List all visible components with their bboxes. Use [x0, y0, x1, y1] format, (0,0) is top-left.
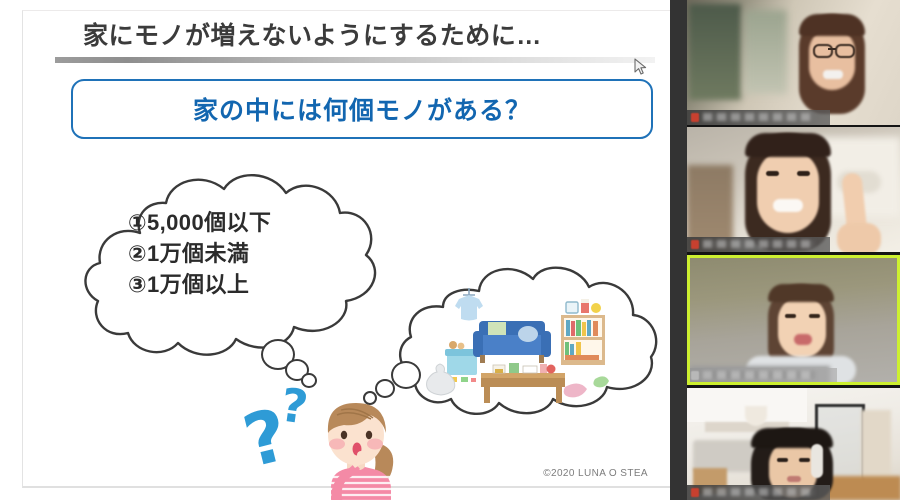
slide-title: 家にモノが増えないようにするために… [83, 19, 643, 53]
answer-option-1: ①5,000個以下 [128, 207, 378, 238]
panel-gutter [670, 0, 687, 500]
participant-tile-3-video [690, 258, 897, 382]
recording-indicator-icon [691, 113, 699, 122]
question-box: 家の中には何個モノがある？ [71, 79, 653, 139]
participant-tile-2-name-blurred [703, 240, 815, 248]
answer-option-2: ②1万個未満 [128, 238, 378, 269]
participant-tile-2[interactable] [687, 127, 900, 252]
recording-indicator-icon [691, 240, 699, 249]
woman-shape [303, 389, 413, 500]
participant-tile-2-video [687, 127, 900, 252]
participant-tile-1[interactable] [687, 0, 900, 125]
room-bubble-tail-large [391, 361, 421, 389]
recording-indicator-icon [691, 488, 699, 497]
participant-tile-3-active-speaker[interactable] [687, 255, 900, 385]
cluttered-room-thought-bubble [395, 259, 663, 424]
answer-option-3: ③1万個以上 [128, 269, 378, 300]
thinking-woman-illustration [303, 389, 413, 500]
screen-share-view: 家にモノが増えないようにするために… 家の中には何個モノがある？ ①5,000個… [0, 0, 900, 500]
participant-tile-1-namebar [687, 110, 830, 125]
title-divider-rule [55, 57, 655, 63]
participant-tile-4-name-blurred [703, 488, 815, 496]
participant-video-strip [687, 0, 900, 500]
participant-tile-2-namebar [687, 237, 830, 252]
participant-tile-3-namebar [687, 368, 837, 385]
copyright-text: ©2020 LUNA O STEA [543, 468, 648, 479]
bookshelf-illustration [561, 299, 605, 365]
shared-slide-area: 家にモノが増えないようにするために… 家の中には何個モノがある？ ①5,000個… [0, 0, 670, 500]
participant-tile-3-name-blurred [703, 371, 815, 379]
participant-tile-4-video [687, 388, 900, 500]
participant-tile-4-namebar [687, 485, 830, 500]
participant-tile-1-video [687, 0, 900, 125]
slide-frame: 家にモノが増えないようにするために… 家の中には何個モノがある？ ①5,000個… [22, 10, 670, 488]
mouse-pointer-icon [634, 58, 648, 76]
answer-options-list: ①5,000個以下 ②1万個未満 ③1万個以上 [128, 207, 378, 301]
participant-tile-4[interactable] [687, 388, 900, 500]
recording-indicator-icon [691, 371, 699, 380]
question-box-text: 家の中には何個モノがある？ [73, 81, 651, 137]
participant-tile-1-name-blurred [703, 113, 815, 121]
answer-thought-bubble: ①5,000個以下 ②1万個未満 ③1万個以上 [78, 163, 423, 363]
room-bubble-shape [395, 259, 663, 424]
